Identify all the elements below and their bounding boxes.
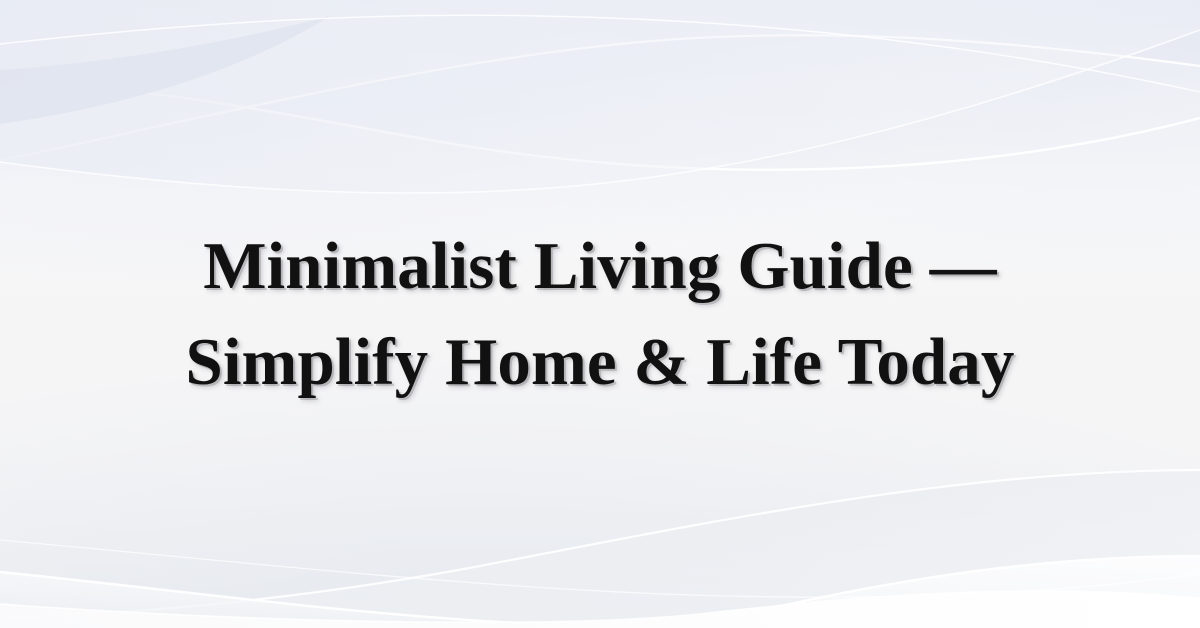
page-title: Minimalist Living Guide — Simplify Home … [185, 218, 1014, 410]
page-title-line-1: Minimalist Living Guide — [203, 229, 997, 303]
page-title-line-2: Simplify Home & Life Today [185, 325, 1014, 399]
card-content: Minimalist Living Guide — Simplify Home … [0, 0, 1200, 628]
social-share-card: Minimalist Living Guide — Simplify Home … [0, 0, 1200, 628]
